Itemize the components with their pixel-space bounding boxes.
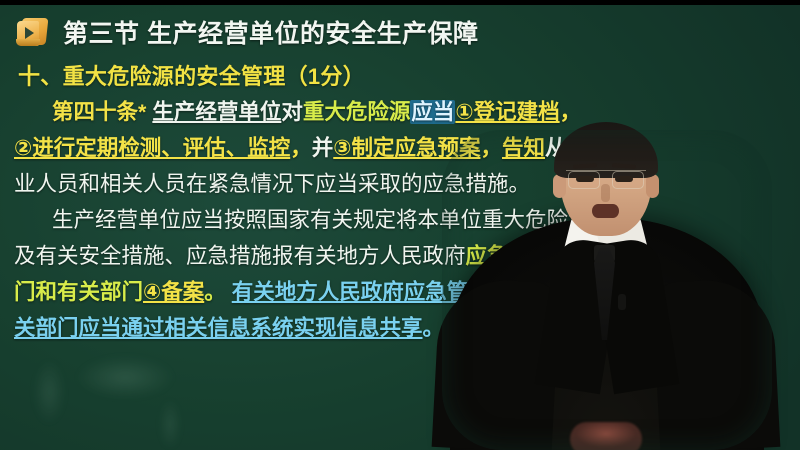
period-1: 。 <box>204 280 226 304</box>
book-play-icon <box>14 15 50 49</box>
text-dept-and-related: 门和有关部门 <box>14 280 143 304</box>
page-title: 第三节 生产经营单位的安全生产保障 <box>63 14 478 50</box>
article-number: 第四十条* <box>52 100 146 124</box>
comma-1: ， <box>560 100 582 124</box>
item-4-filing: ④备案 <box>143 280 204 304</box>
item-2-inspection: ②进行定期检测、评估、监控 <box>14 136 290 160</box>
highlight-yingdang: 应当 <box>410 100 455 124</box>
presenter-nose <box>601 184 610 202</box>
letterbox-top-bar <box>0 0 800 5</box>
text-dui: 对 <box>281 100 303 124</box>
text-production-unit: 生产经营单位 <box>152 100 281 124</box>
presenter-lapel-microphone <box>618 294 626 310</box>
presenter-mouth <box>592 204 619 218</box>
text-major-hazard-source: 重大危险源 <box>303 100 411 124</box>
background-watermark-blur <box>18 348 213 446</box>
text-line5-prefix: 及有关安全措施、应急措施报有关地方人民政府 <box>14 244 466 268</box>
item-1-registration: ①登记建档 <box>455 100 559 124</box>
presenter-hands <box>570 422 642 450</box>
slide-header: 第三节 生产经营单位的安全生产保障 <box>0 10 800 54</box>
section-subheading: 十、重大危险源的安全管理（1分） <box>0 60 800 94</box>
presenter-video-overlay <box>442 130 772 450</box>
video-slide-frame: 第三节 生产经营单位的安全生产保障 十、重大危险源的安全管理（1分） 第四十条*… <box>0 0 800 450</box>
text-bing: 并 <box>312 136 334 160</box>
text-info-sharing: 关部门应当通过相关信息系统实现信息共享 <box>14 316 423 340</box>
comma-2: ， <box>290 136 312 160</box>
body-line-1: 第四十条* 生产经营单位对重大危险源应当①登记建档， <box>0 94 800 130</box>
